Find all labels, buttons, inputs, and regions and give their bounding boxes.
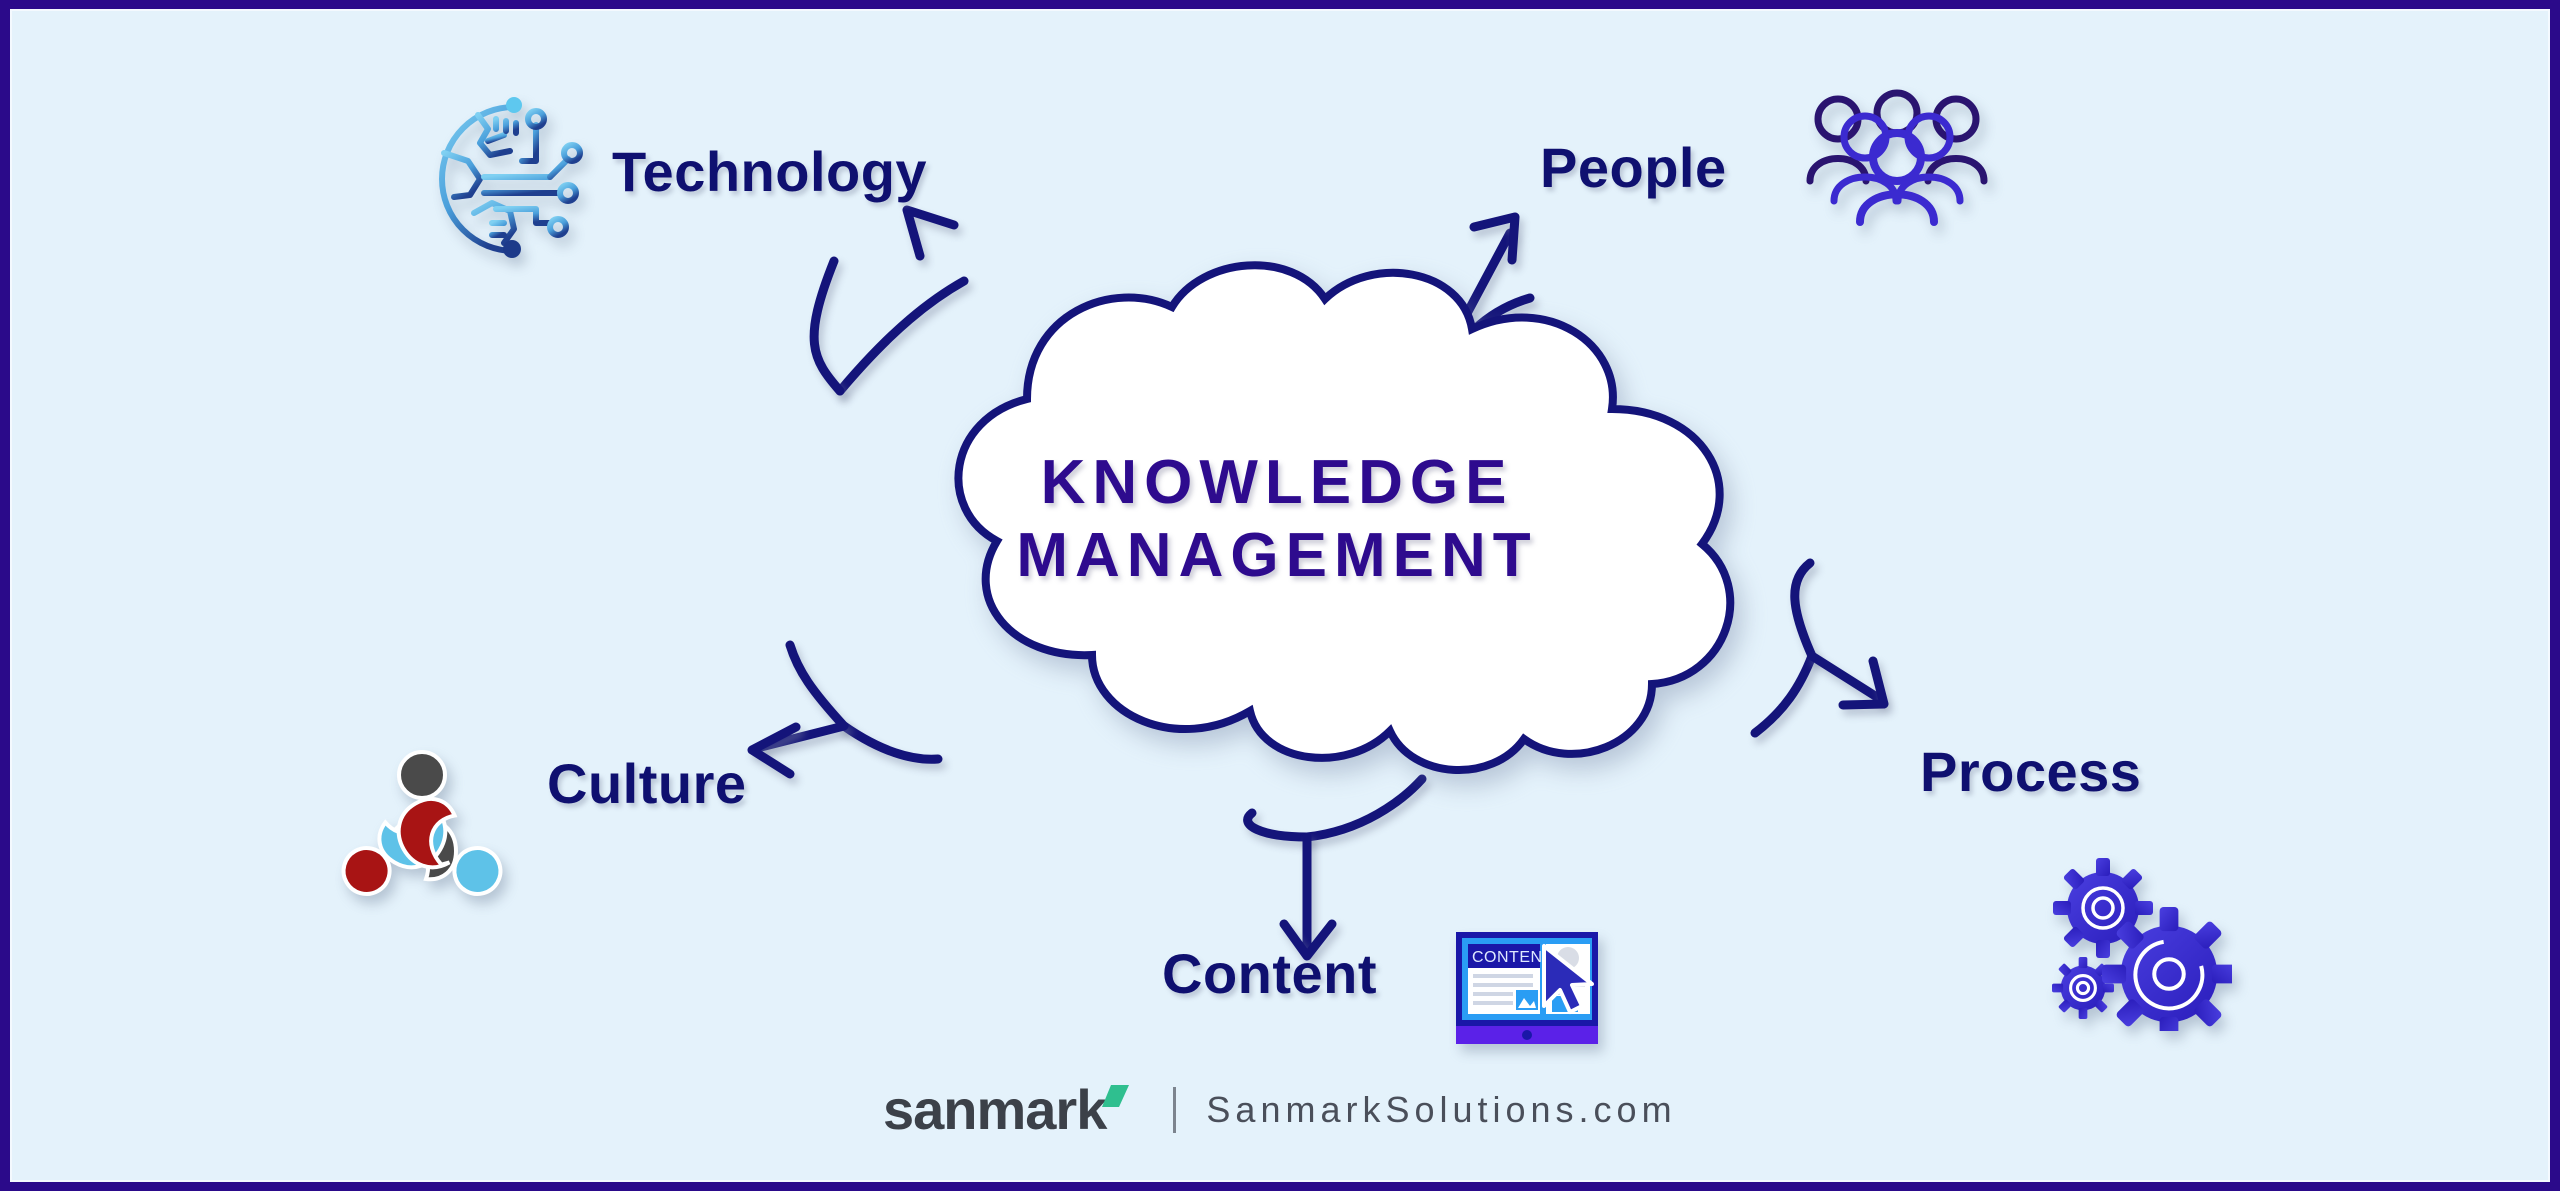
node-label-culture: Culture: [547, 751, 747, 816]
infographic-stage: KNOWLEDGE MANAGEMENT Technology People C…: [12, 11, 2548, 1180]
content-screen-header-text: CONTENT: [1472, 949, 1553, 966]
footer-branding: sanmark SanmarkSolutions.com: [12, 1079, 2548, 1141]
people-group-icon: [1802, 89, 1992, 229]
teamwork-triad-icon: [330, 747, 515, 927]
gears-icon: [2047, 856, 2232, 1031]
node-label-process: Process: [1920, 739, 2141, 804]
node-label-technology: Technology: [612, 139, 927, 204]
infographic-frame: KNOWLEDGE MANAGEMENT Technology People C…: [10, 9, 2550, 1182]
footer-divider: [1173, 1087, 1176, 1133]
sanmark-wordmark: sanmark: [883, 1079, 1108, 1141]
monitor-content-icon: CONTENT: [1452, 928, 1602, 1050]
knowledge-management-cloud: KNOWLEDGE MANAGEMENT: [772, 259, 1782, 779]
arrow-to-content: [1248, 779, 1422, 956]
globe-circuit-icon: [418, 91, 598, 266]
cloud-shape: [772, 259, 1782, 779]
sanmark-logo: sanmark: [883, 1079, 1143, 1141]
footer-website-url: SanmarkSolutions.com: [1206, 1089, 1676, 1131]
node-label-people: People: [1540, 135, 1727, 200]
node-label-content: Content: [1162, 941, 1377, 1006]
